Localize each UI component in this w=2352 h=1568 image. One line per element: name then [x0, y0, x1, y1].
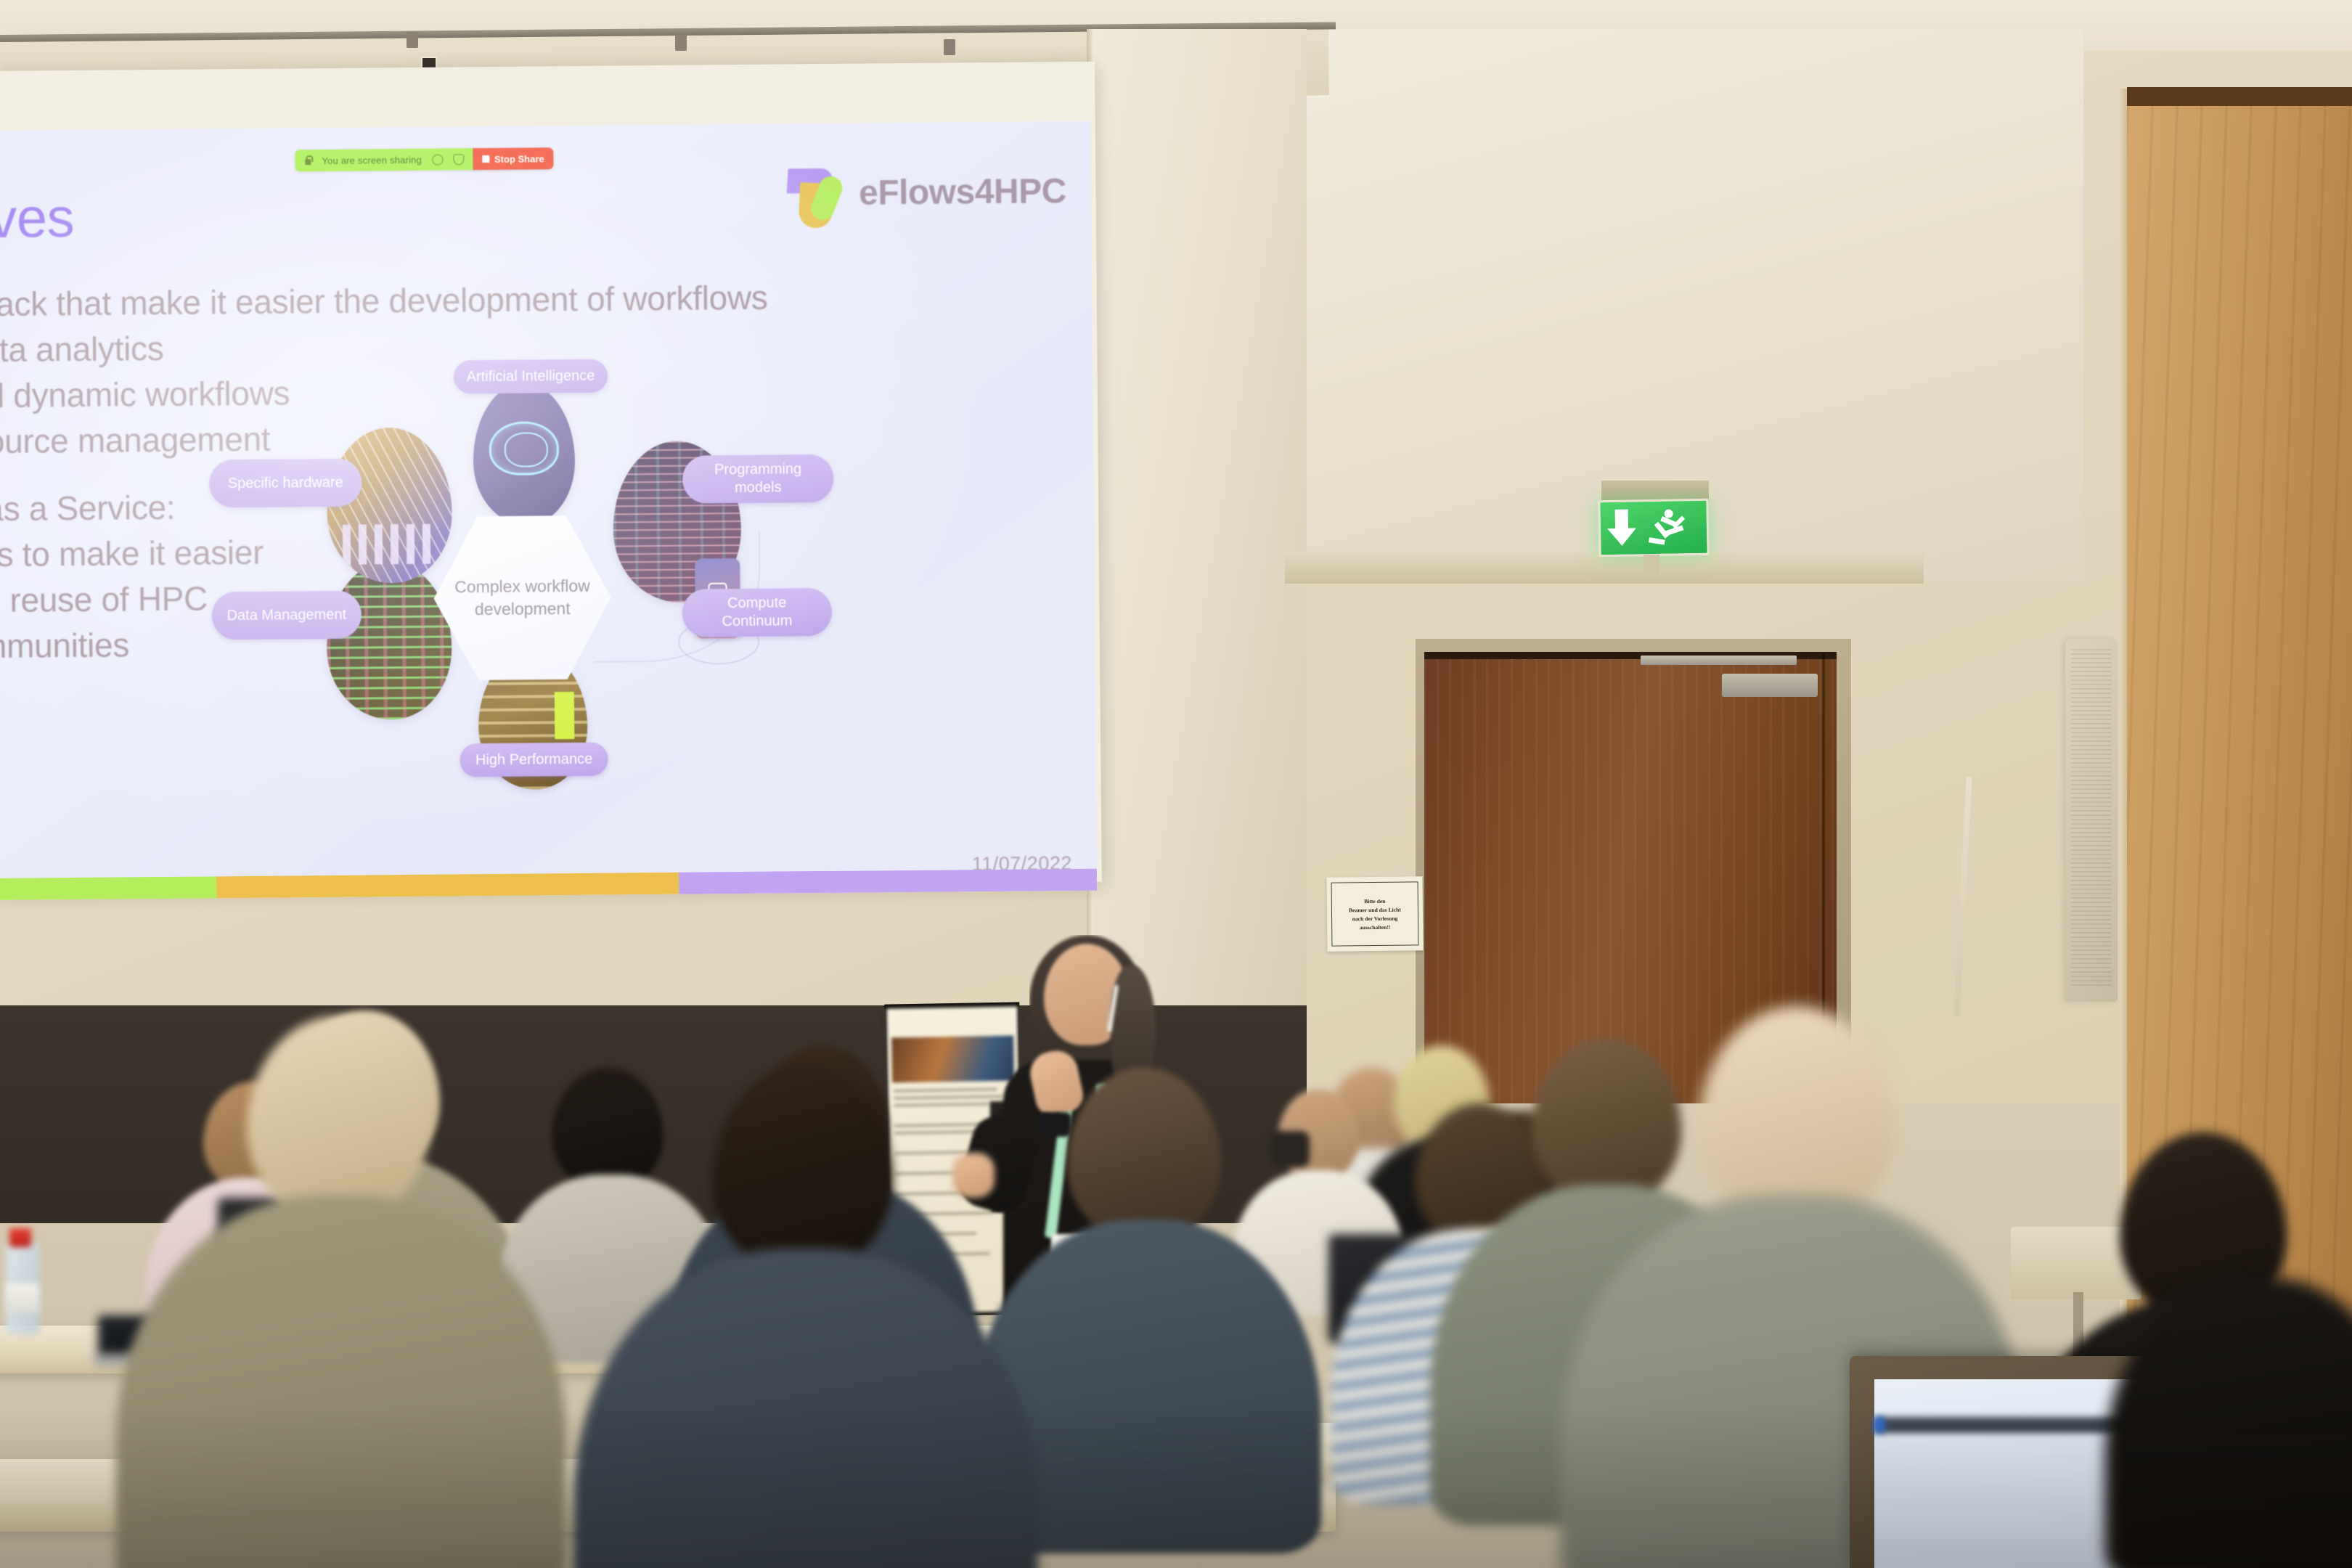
face-mask	[1270, 1131, 1310, 1167]
slide-title: ectives	[0, 187, 74, 251]
projected-slide: You are screen sharing Stop Share ective…	[0, 121, 1097, 900]
bottle-label	[6, 1283, 39, 1312]
stop-square-icon	[482, 155, 489, 163]
node-label-programming-models: Programming models	[682, 454, 834, 504]
logo-mark-icon	[785, 164, 848, 223]
exit-sign-post	[1643, 555, 1659, 576]
rail-clip	[944, 39, 955, 55]
poster-photo	[891, 1036, 1014, 1083]
node-label-compute-continuum: Compute Continuum	[682, 588, 833, 637]
binary-digits-icon	[326, 560, 452, 719]
door-notice-sign: Bitte den Beamer und das Licht nach der …	[1326, 876, 1423, 951]
workflow-diagram: Artificial Intelligence Programming mode…	[185, 363, 857, 775]
vignette	[0, 1408, 2352, 1568]
door-closer-arm	[1641, 656, 1797, 665]
bullet-line: re tools stack that make it easier the d…	[0, 276, 666, 329]
annotate-icon[interactable]	[432, 154, 443, 165]
emergency-exit-sign	[1598, 499, 1709, 558]
share-status-text: You are screen sharing	[322, 154, 422, 166]
down-arrow-icon	[1600, 506, 1643, 550]
running-person-icon	[1642, 505, 1691, 550]
eflows4hpc-logo: eFlows4HPC	[785, 162, 1066, 222]
datacenter-light-streaks-icon	[327, 427, 453, 583]
rail-clip	[675, 35, 687, 51]
node-label-data-management: Data Management	[212, 591, 362, 640]
footer-segment-green	[0, 876, 216, 900]
door-closer-box	[1722, 674, 1818, 697]
brain-neural-network-icon	[473, 383, 576, 526]
wood-panel-header	[2127, 87, 2352, 106]
notice-line: Beamer und das Licht	[1349, 906, 1401, 913]
footer-segment-gold	[216, 873, 679, 899]
shield-icon[interactable]	[453, 154, 464, 165]
node-label-high-performance: High Performance	[460, 743, 608, 777]
notice-line: nach der Vorlesung	[1352, 915, 1398, 922]
bottle-cap	[9, 1228, 31, 1247]
logo-wordmark: eFlows4HPC	[859, 171, 1066, 213]
wall-mounted-loudspeaker	[2065, 639, 2118, 1002]
lecture-room-scene: You are screen sharing Stop Share ective…	[0, 0, 2352, 1568]
wall-pillar	[1089, 29, 1307, 1074]
node-label-artificial-intelligence: Artificial Intelligence	[454, 359, 608, 394]
lock-icon	[303, 155, 311, 166]
notice-line: ausschalten!!	[1360, 923, 1391, 930]
stop-share-button[interactable]: Stop Share	[473, 147, 554, 170]
node-label-specific-hardware: Specific hardware	[209, 459, 362, 508]
rail-clip	[407, 32, 418, 48]
smartwatch	[1040, 1112, 1071, 1137]
diagram-center-label: Complex workflow development	[433, 575, 611, 621]
stop-share-label: Stop Share	[494, 153, 544, 165]
zoom-screen-share-bar[interactable]: You are screen sharing Stop Share	[295, 147, 553, 171]
presenter-hand-left	[952, 1153, 995, 1198]
footer-segment-purple	[679, 869, 1097, 894]
share-status-group: You are screen sharing	[295, 148, 473, 171]
notice-line: Bitte den	[1364, 897, 1385, 904]
